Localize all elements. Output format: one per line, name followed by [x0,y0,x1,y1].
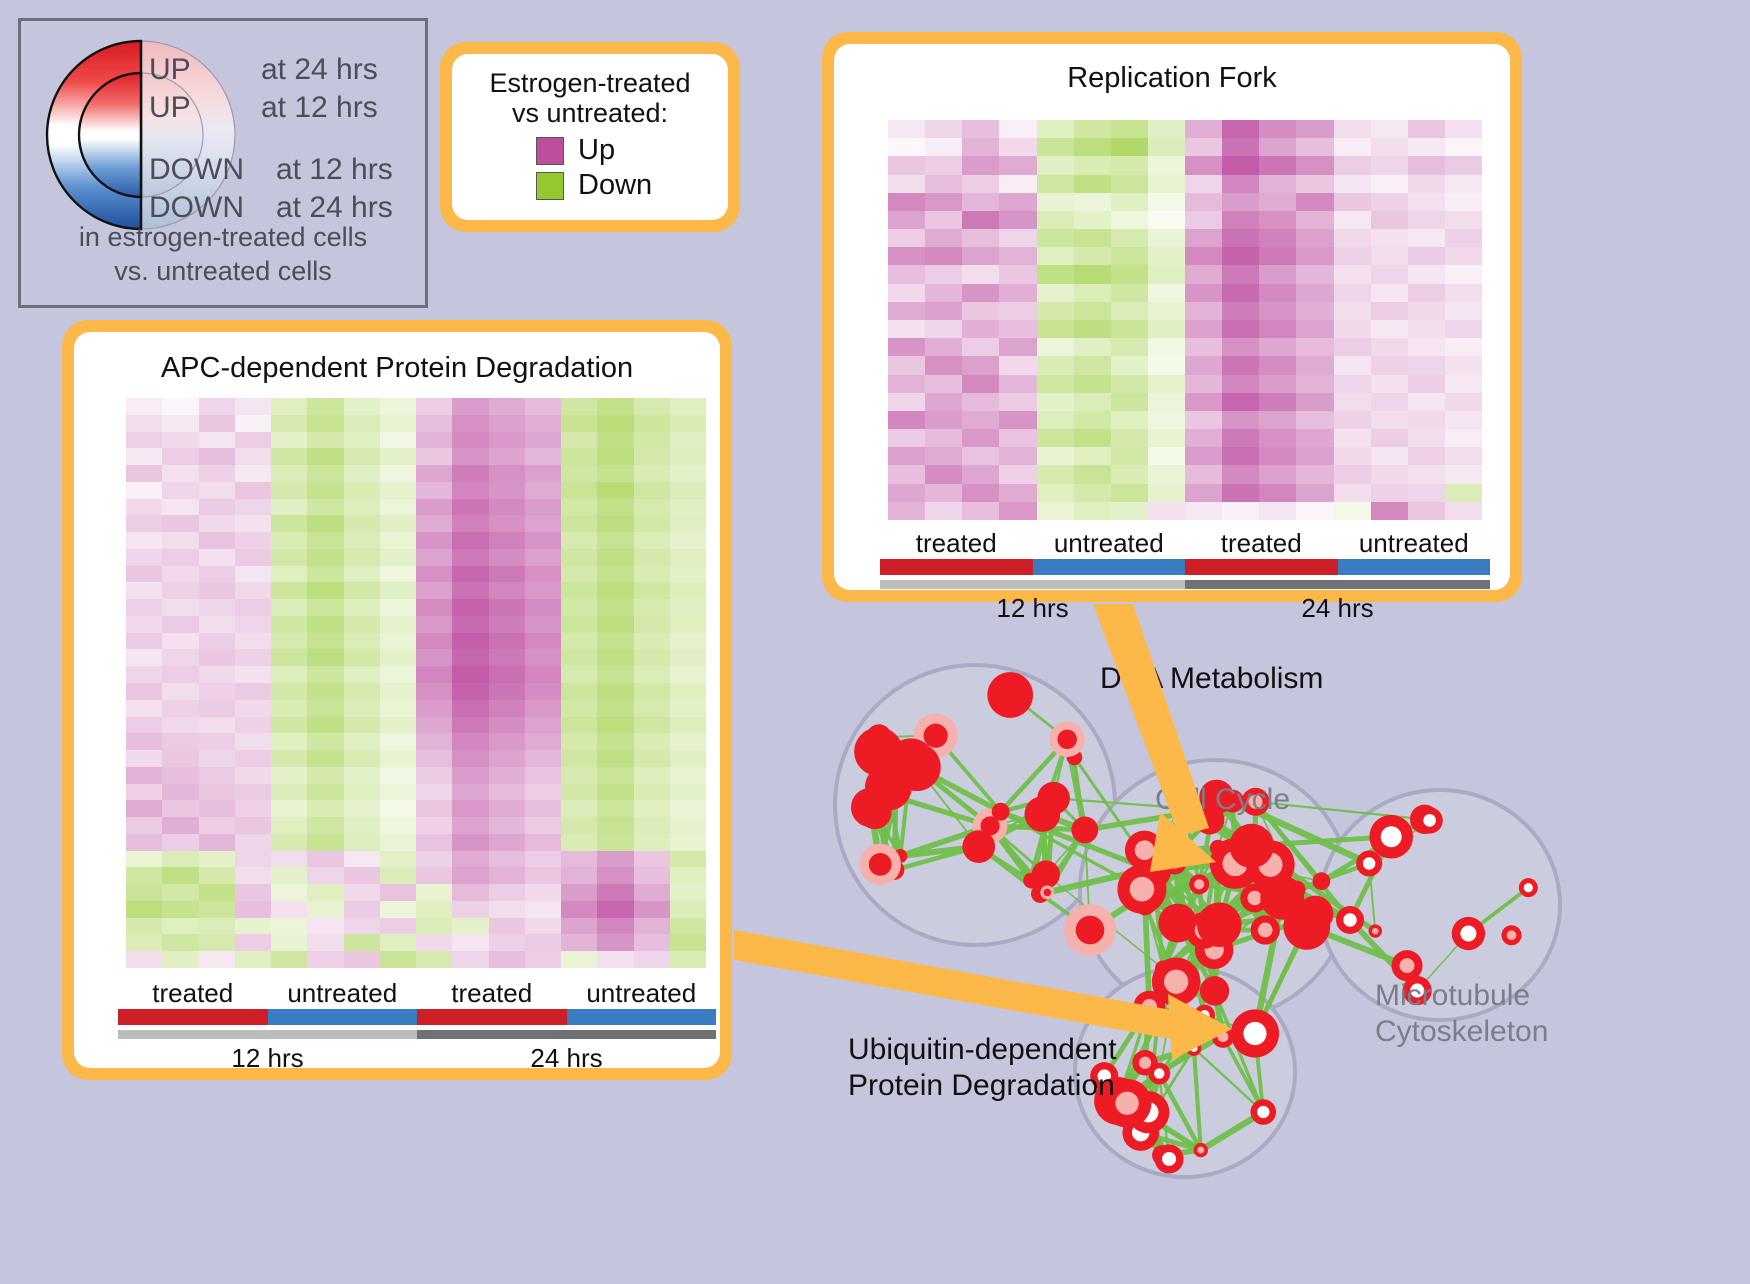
arrow-head-apc [1168,994,1232,1060]
callout-arrows [0,0,1750,1279]
arrow-shaft-apc [734,930,1182,1040]
arrow-shaft-replication-fork [1093,604,1209,836]
